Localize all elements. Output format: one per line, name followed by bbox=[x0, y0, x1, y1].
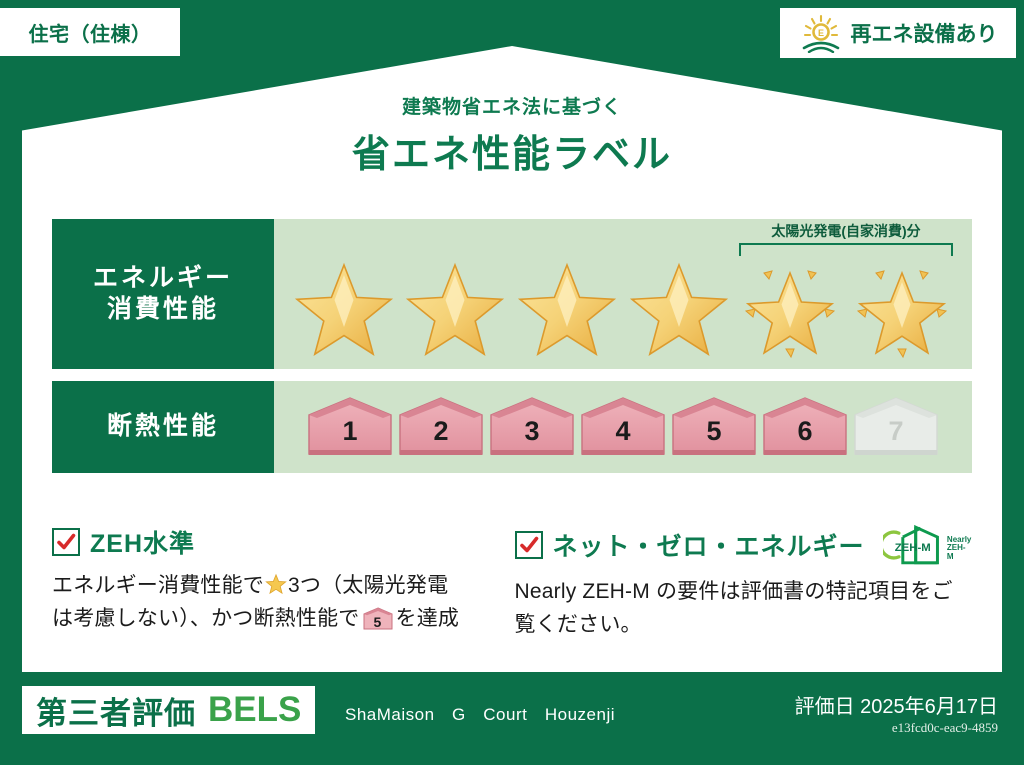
svg-text:ZEH-M: ZEH-M bbox=[894, 542, 930, 554]
insulation-level-number: 6 bbox=[762, 416, 848, 447]
star-icon bbox=[403, 257, 507, 361]
zeh-m-nearly-line2: ZEH-M bbox=[947, 543, 966, 561]
insulation-level-house: 5 bbox=[671, 396, 757, 458]
statements-section: ZEH水準 エネルギー消費性能で3つ（太陽光発電 は考慮しない）、かつ断熱性能で… bbox=[52, 524, 972, 641]
page-title: 省エネ性能ラベル bbox=[0, 123, 1024, 178]
statement-zeh-title: ZEH水準 bbox=[90, 524, 195, 560]
renewable-energy-badge: E 再エネ設備あり bbox=[780, 8, 1016, 58]
insulation-label-text: 断熱性能 bbox=[107, 411, 219, 442]
insulation-level-number: 7 bbox=[853, 416, 939, 447]
insulation-level-number: 4 bbox=[580, 416, 666, 447]
inline-house-number: 5 bbox=[363, 612, 393, 634]
building-type-badge: 住宅（住棟） bbox=[0, 8, 180, 56]
insulation-level-house: 1 bbox=[307, 396, 393, 458]
zeh-body-part3: を達成 bbox=[396, 607, 460, 630]
insulation-level-house-inactive: 7 bbox=[853, 396, 939, 458]
star-icon bbox=[292, 257, 396, 361]
zeh-m-logo: ZEH-M Nearly ZEH-M bbox=[883, 524, 972, 566]
insulation-level-number: 2 bbox=[398, 416, 484, 447]
label-canvas: 住宅（住棟） E 再エネ設備あり 建 bbox=[0, 0, 1024, 765]
star-rating bbox=[274, 253, 972, 365]
solar-sun-icon: E bbox=[799, 13, 843, 53]
insulation-performance-row: 断熱性能 1 bbox=[52, 381, 972, 473]
checkbox-checked-icon bbox=[515, 531, 543, 559]
evaluation-date: 評価日 2025年6月17日 bbox=[795, 690, 998, 719]
building-type-label: 住宅（住棟） bbox=[29, 18, 152, 47]
energy-label-line1: エネルギー bbox=[93, 263, 233, 294]
zeh-body-stars: 3つ（太陽光発電 bbox=[288, 574, 448, 597]
statement-nze-body: Nearly ZEH-M の要件は評価書の特記項目をご覧ください。 bbox=[515, 576, 972, 641]
statement-zeh: ZEH水準 エネルギー消費性能で3つ（太陽光発電 は考慮しない）、かつ断熱性能で… bbox=[52, 524, 477, 641]
zeh-m-nearly-line1: Nearly bbox=[947, 535, 971, 544]
title-subtitle: 建築物省エネ法に基づく bbox=[0, 92, 1024, 119]
zeh-body-part2: は考慮しない）、かつ断熱性能で bbox=[52, 607, 360, 630]
evaluation-id: e13fcd0c-eac9-4859 bbox=[892, 720, 998, 736]
bels-logo-box: 第三者評価 BELS bbox=[22, 686, 315, 734]
inline-house-badge: 5 bbox=[363, 607, 393, 630]
insulation-level-number: 3 bbox=[489, 416, 575, 447]
insulation-level-house: 2 bbox=[398, 396, 484, 458]
insulation-level-house: 3 bbox=[489, 396, 575, 458]
building-name: ShaMaison G Court Houzenji bbox=[345, 700, 615, 725]
solar-caption: 太陽光発電(自家消費)分 bbox=[736, 221, 956, 241]
bels-jp-label: 第三者評価 bbox=[36, 688, 196, 733]
star-icon-solar bbox=[850, 257, 954, 361]
insulation-level-house: 6 bbox=[762, 396, 848, 458]
insulation-scale: 1 2 3 bbox=[274, 381, 972, 473]
insulation-level-house: 4 bbox=[580, 396, 666, 458]
insulation-performance-label: 断熱性能 bbox=[52, 381, 274, 473]
insulation-performance-body: 1 2 3 bbox=[274, 381, 972, 473]
statement-nze: ネット・ゼロ・エネルギー ZEH-M Nearly ZEH-M bbox=[515, 524, 972, 641]
star-icon bbox=[627, 257, 731, 361]
insulation-level-number: 5 bbox=[671, 416, 757, 447]
star-icon-solar bbox=[738, 257, 842, 361]
renewable-energy-label: 再エネ設備あり bbox=[851, 18, 998, 48]
energy-performance-row: エネルギー 消費性能 太陽光発電(自家消費)分 bbox=[52, 219, 972, 369]
zeh-m-nearly-label: Nearly ZEH-M bbox=[947, 536, 972, 566]
statement-zeh-head: ZEH水準 bbox=[52, 524, 477, 560]
energy-performance-label: エネルギー 消費性能 bbox=[52, 219, 274, 369]
energy-label-line2: 消費性能 bbox=[107, 294, 219, 325]
checkbox-checked-icon bbox=[52, 528, 80, 556]
star-icon bbox=[515, 257, 619, 361]
svg-text:E: E bbox=[817, 28, 823, 38]
statement-nze-head: ネット・ゼロ・エネルギー ZEH-M Nearly ZEH-M bbox=[515, 524, 972, 566]
energy-performance-body: 太陽光発電(自家消費)分 bbox=[274, 219, 972, 369]
zeh-body-part1: エネルギー消費性能で bbox=[52, 574, 264, 597]
inline-star-icon bbox=[265, 573, 287, 595]
footer-bar: 第三者評価 BELS ShaMaison G Court Houzenji 評価… bbox=[0, 672, 1024, 765]
insulation-level-number: 1 bbox=[307, 416, 393, 447]
statement-zeh-body: エネルギー消費性能で3つ（太陽光発電 は考慮しない）、かつ断熱性能で5を達成 bbox=[52, 570, 477, 635]
statement-nze-title: ネット・ゼロ・エネルギー bbox=[553, 527, 865, 563]
page-title-block: 建築物省エネ法に基づく 省エネ性能ラベル bbox=[0, 92, 1024, 178]
bels-en-label: BELS bbox=[208, 690, 301, 730]
